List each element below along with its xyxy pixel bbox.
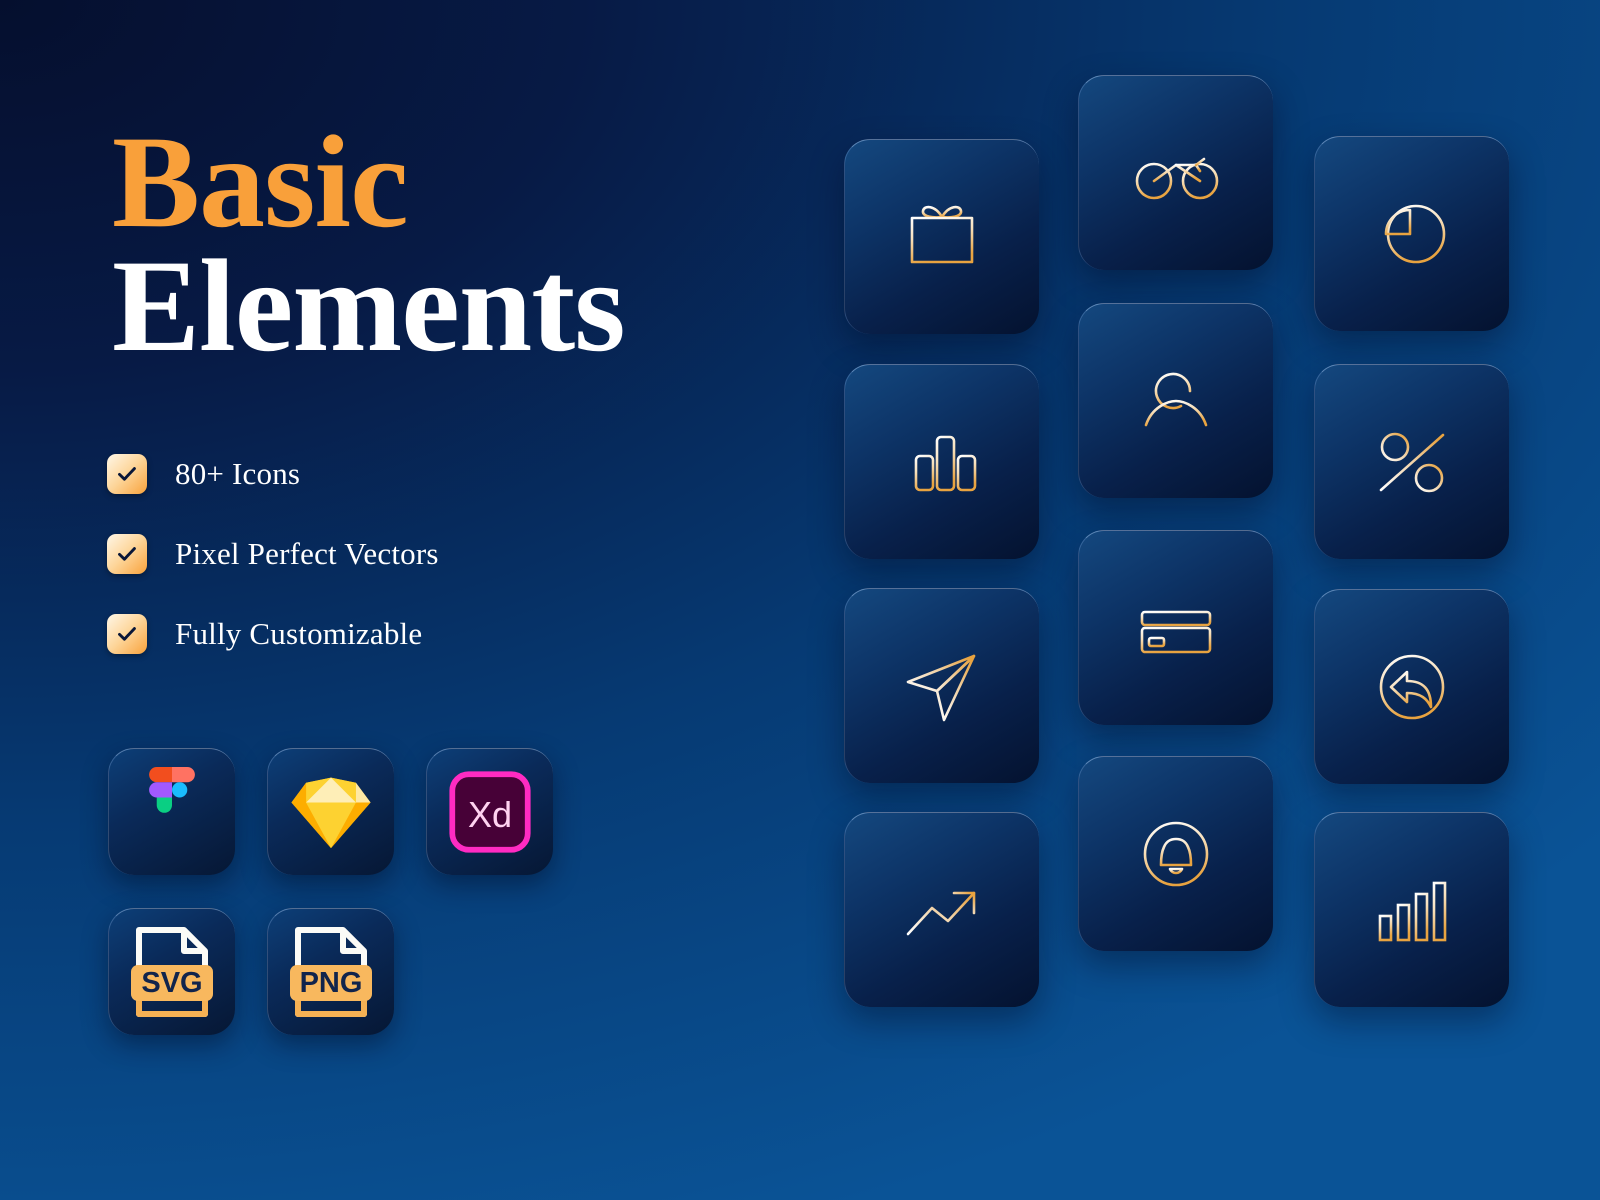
file-badge-row: SVG PNG <box>108 908 394 1035</box>
figma-icon <box>141 767 203 857</box>
check-icon <box>115 462 139 486</box>
bar-chart-icon <box>894 414 990 510</box>
feature-label: 80+ Icons <box>175 456 300 492</box>
page-title: Basic Elements <box>112 120 732 368</box>
icon-card-bicycle[interactable] <box>1078 75 1273 270</box>
reply-icon <box>1357 632 1467 742</box>
user-icon <box>1124 349 1228 453</box>
check-icon <box>115 542 139 566</box>
icon-card-pie-chart[interactable] <box>1314 136 1509 331</box>
title-line-elements: Elements <box>112 244 732 368</box>
adobe-xd-label: Xd <box>468 794 512 835</box>
feature-item-vectors: Pixel Perfect Vectors <box>107 532 439 576</box>
icon-card-gift[interactable] <box>844 139 1039 334</box>
signal-bars-icon <box>1360 858 1464 962</box>
feature-list: 80+ Icons Pixel Perfect Vectors Fully Cu… <box>107 452 439 692</box>
check-icon <box>115 622 139 646</box>
icon-card-user[interactable] <box>1078 303 1273 498</box>
icon-card-reply[interactable] <box>1314 589 1509 784</box>
feature-label: Fully Customizable <box>175 616 422 652</box>
file-badge-svg[interactable]: SVG <box>108 908 235 1035</box>
svg-label: SVG <box>141 967 202 999</box>
svg-file-icon: SVG <box>129 925 215 1019</box>
bell-icon <box>1121 799 1231 909</box>
icon-card-credit-card[interactable] <box>1078 530 1273 725</box>
icon-card-bell[interactable] <box>1078 756 1273 951</box>
app-badge-sketch[interactable] <box>267 748 394 875</box>
gift-icon <box>894 189 990 285</box>
checkbox-checked[interactable] <box>107 454 147 494</box>
checkbox-checked[interactable] <box>107 534 147 574</box>
icon-card-percent[interactable] <box>1314 364 1509 559</box>
app-badge-figma[interactable] <box>108 748 235 875</box>
icon-card-signal-bars[interactable] <box>1314 812 1509 1007</box>
bicycle-icon <box>1124 121 1228 225</box>
icon-grid <box>820 0 1600 1200</box>
icon-card-send[interactable] <box>844 588 1039 783</box>
png-file-icon: PNG <box>288 925 374 1019</box>
png-label: PNG <box>300 967 363 999</box>
feature-item-customizable: Fully Customizable <box>107 612 439 656</box>
credit-card-icon <box>1124 576 1228 680</box>
send-icon <box>890 634 994 738</box>
percent-icon <box>1360 410 1464 514</box>
app-badge-row: Xd <box>108 748 553 875</box>
icon-card-bar-chart[interactable] <box>844 364 1039 559</box>
title-line-basic: Basic <box>112 120 732 244</box>
pie-chart-icon <box>1360 182 1464 286</box>
poster-canvas: Basic Elements 80+ Icons Pixel Perfect <box>0 0 1600 1200</box>
trending-up-icon <box>890 858 994 962</box>
checkbox-checked[interactable] <box>107 614 147 654</box>
file-badge-png[interactable]: PNG <box>267 908 394 1035</box>
feature-item-icons: 80+ Icons <box>107 452 439 496</box>
icon-card-trending-up[interactable] <box>844 812 1039 1007</box>
sketch-icon <box>288 774 374 850</box>
app-badge-adobe-xd[interactable]: Xd <box>426 748 553 875</box>
feature-label: Pixel Perfect Vectors <box>175 536 439 572</box>
left-panel: Basic Elements 80+ Icons Pixel Perfect <box>0 0 760 1200</box>
adobe-xd-icon: Xd <box>449 771 531 853</box>
